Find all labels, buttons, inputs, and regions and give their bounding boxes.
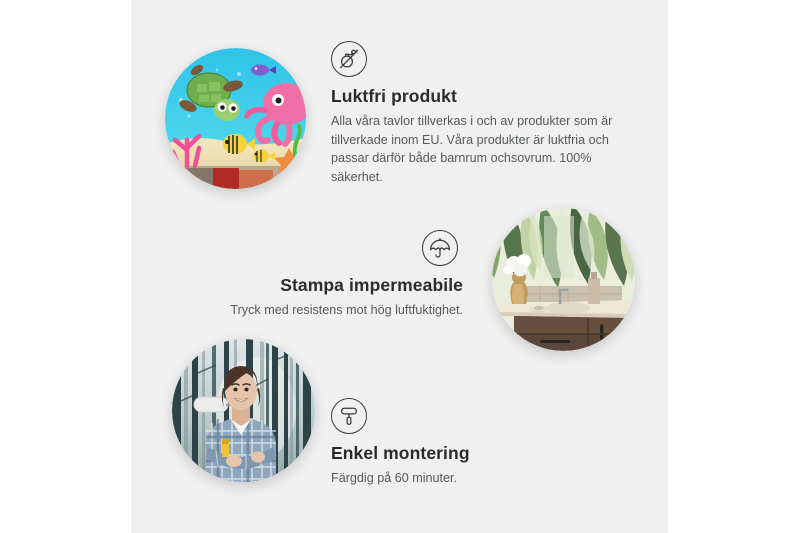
feature-waterproof: Stampa impermeabile Tryck med resistens …: [213, 230, 463, 320]
underwater-scene-photo: [165, 48, 306, 189]
feature-description: Tryck med resistens mot hög luftfuktighe…: [213, 301, 463, 320]
promo-feature-panel: Luktfri produkt Alla våra tavlor tillver…: [0, 0, 800, 533]
bathroom-wallpaper-image: [492, 208, 635, 351]
feature-easy-mounting: Enkel montering Färgdig på 60 minuter.: [331, 398, 571, 488]
feature-description: Alla våra tavlor tillverkas i och av pro…: [331, 112, 621, 187]
painter-forest-photo: [172, 339, 315, 482]
feature-odorless: Luktfri produkt Alla våra tavlor tillver…: [331, 41, 621, 187]
bathroom-wallpaper-photo: [492, 208, 635, 351]
painter-forest-image: [172, 339, 315, 482]
feature-title: Luktfri produkt: [331, 86, 621, 107]
feature-description: Färgdig på 60 minuter.: [331, 469, 571, 488]
no-fragrance-icon: [331, 41, 367, 77]
feature-title: Enkel montering: [331, 443, 571, 464]
paint-roller-icon: [331, 398, 367, 434]
feature-title: Stampa impermeabile: [213, 275, 463, 296]
underwater-scene-image: [165, 48, 306, 189]
umbrella-icon: [422, 230, 458, 266]
